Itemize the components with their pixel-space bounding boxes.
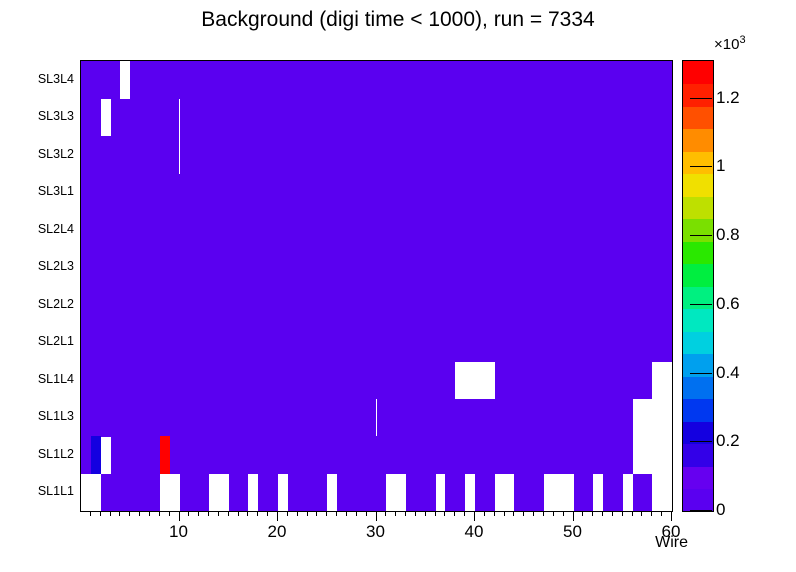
- heatmap-cell: [672, 474, 673, 512]
- heatmap-cell: [426, 249, 505, 287]
- heatmap-cell: [130, 61, 673, 99]
- heatmap-cell: [209, 174, 308, 212]
- colorbar-segment: [683, 331, 713, 354]
- heatmap-cell: [101, 474, 121, 512]
- heatmap-cell: [130, 361, 406, 399]
- heatmap-cell: [180, 136, 298, 174]
- x-axis-minor-tick: [326, 511, 327, 516]
- heatmap-cell: [406, 474, 436, 512]
- x-axis-minor-tick: [287, 511, 288, 516]
- x-axis-minor-tick: [149, 511, 150, 516]
- x-axis-minor-tick: [100, 511, 101, 516]
- x-axis-minor-tick: [257, 511, 258, 516]
- colorbar-segment: [683, 399, 713, 422]
- x-axis-minor-tick: [218, 511, 219, 516]
- x-axis-major-tick: [376, 511, 377, 521]
- heatmap-cell: [672, 174, 673, 212]
- heatmap-cell: [81, 211, 101, 249]
- heatmap-cell: [81, 61, 120, 99]
- heatmap-cell: [81, 99, 101, 137]
- x-axis-minor-tick: [159, 511, 160, 516]
- colorbar-tick-label: 1.2: [716, 88, 740, 108]
- x-axis-minor-tick: [425, 511, 426, 516]
- colorbar-segment: [683, 196, 713, 219]
- y-axis-tick-label: SL2L3: [38, 259, 74, 273]
- heatmap-cell: [633, 136, 673, 174]
- colorbar-segment: [683, 174, 713, 197]
- heatmap-cell: [278, 249, 426, 287]
- x-axis-minor-tick: [523, 511, 524, 516]
- colorbar-exponent-base: ×10: [714, 36, 739, 53]
- x-axis-minor-tick: [316, 511, 317, 516]
- x-axis-minor-tick: [641, 511, 642, 516]
- heatmap-cell-highlight: [91, 436, 101, 474]
- colorbar-segment: [683, 376, 713, 399]
- colorbar-tick: [690, 510, 712, 511]
- x-axis-tick-label: 40: [465, 522, 484, 542]
- x-axis-minor-tick: [247, 511, 248, 516]
- x-axis-minor-tick: [395, 511, 396, 516]
- x-axis-minor-tick: [494, 511, 495, 516]
- x-axis-minor-tick: [366, 511, 367, 516]
- x-axis-minor-tick: [228, 511, 229, 516]
- x-axis-minor-tick: [238, 511, 239, 516]
- colorbar-segment: [683, 219, 713, 242]
- heatmap-cell: [603, 474, 623, 512]
- heatmap-cell: [258, 474, 278, 512]
- x-axis-minor-tick: [582, 511, 583, 516]
- x-axis-minor-tick: [504, 511, 505, 516]
- heatmap-cell: [140, 474, 160, 512]
- x-axis-minor-tick: [129, 511, 130, 516]
- heatmap-cell: [81, 136, 91, 174]
- x-axis-minor-tick: [307, 511, 308, 516]
- colorbar-segment: [683, 444, 713, 467]
- colorbar-segment: [683, 286, 713, 309]
- x-axis-minor-tick: [612, 511, 613, 516]
- heatmap-cell: [120, 174, 209, 212]
- heatmap-cell: [81, 249, 150, 287]
- x-axis-minor-tick: [553, 511, 554, 516]
- heatmap-cell: [524, 136, 632, 174]
- colorbar-segment: [683, 241, 713, 264]
- colorbar-tick: [690, 166, 712, 167]
- x-axis-minor-tick: [435, 511, 436, 516]
- y-axis-tick-label: SL2L2: [38, 297, 74, 311]
- x-axis-minor-tick: [346, 511, 347, 516]
- x-axis-minor-tick: [651, 511, 652, 516]
- heatmap-cell: [81, 399, 91, 437]
- heatmap-cell-highlight: [160, 436, 170, 474]
- x-axis-minor-tick: [297, 511, 298, 516]
- colorbar-segment: [683, 129, 713, 152]
- heatmap-cell: [406, 361, 455, 399]
- x-axis-minor-tick: [563, 511, 564, 516]
- heatmap-cell: [298, 136, 525, 174]
- heatmap-cell: [396, 399, 632, 437]
- colorbar-tick-label: 0.4: [716, 363, 740, 383]
- x-axis-minor-tick: [484, 511, 485, 516]
- colorbar-segment: [683, 466, 713, 489]
- heatmap-cell: [101, 211, 200, 249]
- x-axis-major-tick: [474, 511, 475, 521]
- x-axis-minor-tick: [622, 511, 623, 516]
- colorbar-tick-label: 0.2: [716, 431, 740, 451]
- x-axis-minor-tick: [169, 511, 170, 516]
- colorbar-tick-label: 0: [716, 500, 725, 520]
- x-axis-minor-tick: [415, 511, 416, 516]
- heatmap-cell: [574, 474, 594, 512]
- x-axis-tick-label: 10: [169, 522, 188, 542]
- x-axis-minor-tick: [385, 511, 386, 516]
- x-axis-minor-tick: [513, 511, 514, 516]
- heatmap-cell: [91, 136, 180, 174]
- heatmap-cell: [101, 174, 121, 212]
- colorbar[interactable]: [682, 60, 714, 512]
- heatmap-cell: [229, 474, 249, 512]
- colorbar-exponent-label: ×103: [714, 34, 746, 53]
- x-axis-minor-tick: [543, 511, 544, 516]
- heatmap-cell: [180, 99, 674, 137]
- heatmap-cell: [111, 436, 633, 474]
- heatmap-cell: [347, 474, 367, 512]
- heatmap-cell: [81, 174, 101, 212]
- x-axis-minor-tick: [90, 511, 91, 516]
- x-axis-minor-tick: [632, 511, 633, 516]
- heatmap-cell: [111, 99, 180, 137]
- heatmap-cell: [495, 361, 633, 399]
- x-axis-minor-tick: [533, 511, 534, 516]
- heatmap-cell: [91, 399, 170, 437]
- colorbar-segment: [683, 106, 713, 129]
- heatmap-cell: [367, 474, 387, 512]
- y-axis-tick-label: SL1L2: [38, 447, 74, 461]
- colorbar-segment: [683, 264, 713, 287]
- x-axis-minor-tick: [464, 511, 465, 516]
- x-axis-tick-label: 50: [563, 522, 582, 542]
- x-axis-tick-label: 20: [268, 522, 287, 542]
- heatmap-cell: [633, 474, 653, 512]
- heatmap-cell: [81, 324, 673, 362]
- heatmap-cell: [514, 474, 544, 512]
- colorbar-tick-label: 0.6: [716, 294, 740, 314]
- x-axis-tick-label: 30: [366, 522, 385, 542]
- colorbar-tick: [690, 373, 712, 374]
- colorbar-tick: [690, 304, 712, 305]
- y-axis-tick-label: SL3L2: [38, 147, 74, 161]
- heatmap-cells: [81, 61, 672, 511]
- heatmap-cell: [633, 361, 653, 399]
- heatmap-cell: [170, 399, 377, 437]
- x-axis-minor-tick: [444, 511, 445, 516]
- x-axis-title: Wire: [655, 534, 688, 552]
- x-axis-minor-tick: [119, 511, 120, 516]
- y-axis-tick-label: SL1L3: [38, 409, 74, 423]
- colorbar-segment: [683, 489, 713, 512]
- heatmap-cell: [475, 474, 495, 512]
- colorbar-segment: [683, 151, 713, 174]
- colorbar-tick: [690, 98, 712, 99]
- x-axis-minor-tick: [208, 511, 209, 516]
- x-axis-minor-tick: [405, 511, 406, 516]
- y-axis-tick-label: SL3L1: [38, 184, 74, 198]
- heatmap-plot-area[interactable]: [80, 60, 673, 512]
- x-axis-minor-tick: [661, 511, 662, 516]
- colorbar-tick: [690, 441, 712, 442]
- x-axis-minor-tick: [110, 511, 111, 516]
- colorbar-tick: [690, 235, 712, 236]
- x-axis-major-tick: [277, 511, 278, 521]
- heatmap-cell: [426, 174, 672, 212]
- heatmap-cell: [81, 286, 278, 324]
- heatmap-cell: [120, 474, 140, 512]
- heatmap-cell: [199, 211, 673, 249]
- x-axis-minor-tick: [592, 511, 593, 516]
- heatmap-cell: [150, 249, 278, 287]
- x-axis-minor-tick: [602, 511, 603, 516]
- root-canvas: Background (digi time < 1000), run = 733…: [0, 0, 796, 572]
- colorbar-exponent-power: 3: [739, 34, 745, 46]
- x-axis-major-tick: [179, 511, 180, 521]
- x-axis-minor-tick: [356, 511, 357, 516]
- x-axis-minor-tick: [198, 511, 199, 516]
- chart-title: Background (digi time < 1000), run = 733…: [0, 8, 796, 32]
- y-axis-tick-label: SL1L4: [38, 372, 74, 386]
- y-axis-tick-label: SL1L1: [38, 484, 74, 498]
- heatmap-cell: [445, 474, 465, 512]
- colorbar-tick-label: 1: [716, 156, 725, 176]
- y-axis-tick-label: SL2L1: [38, 334, 74, 348]
- x-axis-major-tick: [671, 511, 672, 521]
- colorbar-segment: [683, 61, 713, 84]
- heatmap-cell: [505, 249, 673, 287]
- colorbar-tick-label: 0.8: [716, 225, 740, 245]
- heatmap-cell: [81, 361, 130, 399]
- y-axis-tick-label: SL2L4: [38, 222, 74, 236]
- x-axis-minor-tick: [267, 511, 268, 516]
- colorbar-segment: [683, 84, 713, 107]
- x-axis-minor-tick: [188, 511, 189, 516]
- x-axis-minor-tick: [139, 511, 140, 516]
- x-axis-major-tick: [573, 511, 574, 521]
- y-axis-tick-label: SL3L4: [38, 72, 74, 86]
- y-axis-tick-label: SL3L3: [38, 109, 74, 123]
- heatmap-cell: [278, 286, 673, 324]
- heatmap-cell: [377, 399, 397, 437]
- heatmap-cell: [288, 474, 327, 512]
- heatmap-cell: [180, 474, 210, 512]
- colorbar-segment: [683, 309, 713, 332]
- x-axis-minor-tick: [454, 511, 455, 516]
- heatmap-cell: [308, 174, 426, 212]
- x-axis-minor-tick: [336, 511, 337, 516]
